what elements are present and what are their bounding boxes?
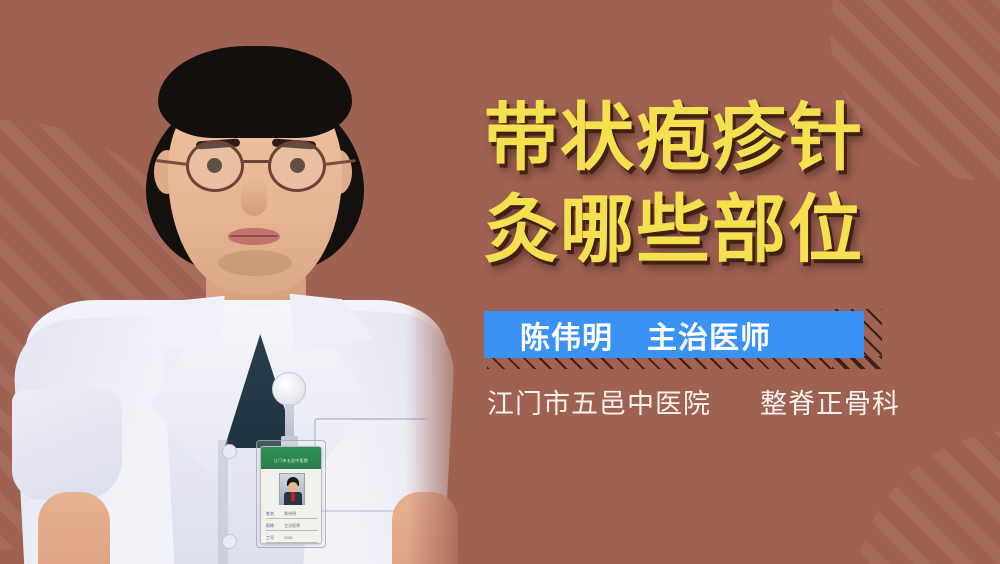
presenter-name-banner-content: 陈伟明 主治医师 (484, 313, 771, 357)
department-name: 整脊正骨科 (760, 389, 900, 419)
headline-block: 带状疱疹针 灸哪些部位 (484, 92, 904, 276)
headline-line-2: 灸哪些部位 (484, 184, 904, 276)
presenter-name: 陈伟明 (520, 313, 613, 357)
presenter-title: 主治医师 (647, 313, 771, 357)
id-badge-value: 陈伟明 (284, 511, 296, 516)
id-badge-value: 主治医师 (284, 523, 300, 528)
hospital-name: 江门市五邑中医院 (487, 389, 711, 419)
id-badge-card: 江门市五邑中医院 姓名 陈伟明 职称 主治医师 工号 0001 (260, 446, 322, 544)
photo-edge-fade (406, 0, 470, 564)
glasses-bridge (243, 160, 269, 163)
id-badge-photo (279, 473, 305, 505)
hair-front (158, 46, 352, 138)
arm-left (38, 492, 110, 564)
headline-line-1: 带状疱疹针 (484, 92, 904, 184)
coat-sleeve-left (12, 390, 122, 500)
id-badge-header-text: 江门市五邑中医院 (261, 458, 321, 464)
id-badge-key: 职称 (266, 523, 274, 528)
id-badge-row: 职称 主治医师 (266, 521, 318, 531)
thumbnail-canvas: 江门市五邑中医院 姓名 陈伟明 职称 主治医师 工号 0001 (0, 0, 1000, 564)
id-badge-row: 工号 0001 (266, 533, 318, 543)
coat-button (222, 534, 237, 549)
chin-shadow (218, 250, 292, 276)
coat-button (222, 444, 237, 459)
hospital-department-line: 江门市五邑中医院 整脊正骨科 (487, 382, 900, 421)
id-photo-tie (291, 492, 295, 501)
id-badge-key: 工号 (266, 535, 274, 540)
id-badge-row: 姓名 陈伟明 (266, 509, 318, 519)
mouth-line (230, 235, 278, 237)
nose (241, 178, 267, 216)
glasses-lens-left (186, 140, 244, 192)
id-badge-key: 姓名 (266, 511, 274, 516)
badge-reel-icon (272, 372, 306, 406)
striped-circle-bottom-right-decoration (855, 430, 1000, 564)
id-badge-value: 0001 (284, 535, 293, 540)
presenter-name-banner: 陈伟明 主治医师 (484, 311, 864, 358)
doctor-portrait-photo: 江门市五邑中医院 姓名 陈伟明 职称 主治医师 工号 0001 (0, 0, 470, 564)
glasses-lens-right (268, 140, 326, 192)
